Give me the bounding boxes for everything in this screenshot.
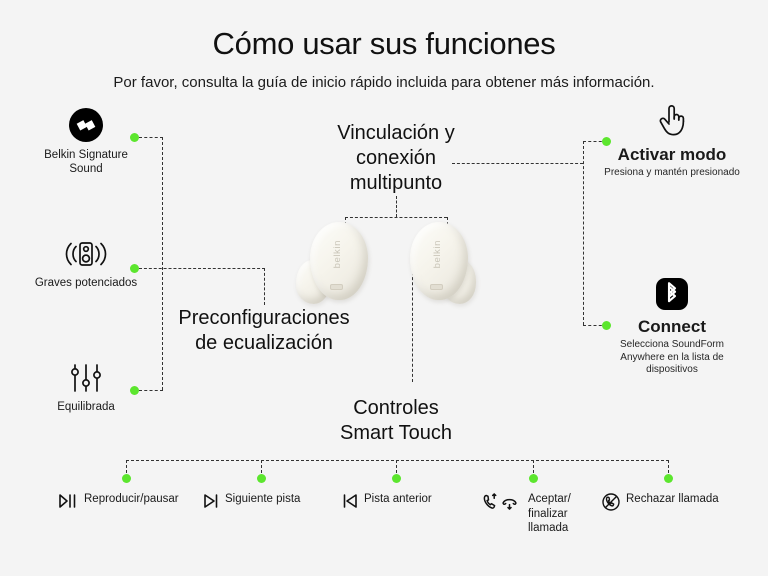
reject-call-icon: [602, 492, 620, 516]
label-multipoint-line2: conexión: [296, 146, 496, 171]
hand-tap-icon: [592, 100, 752, 138]
connector-multipoint-drop: [396, 196, 397, 217]
page-title: Cómo usar sus funciones: [0, 26, 768, 62]
label-smart-touch: Controles Smart Touch: [300, 396, 492, 446]
right-earbud: belkin: [404, 222, 482, 318]
connector-smart-touch-bus: [126, 460, 669, 461]
equalizer-sliders-icon: [20, 356, 152, 394]
bluetooth-icon: [596, 272, 748, 310]
previous-track-icon: [342, 492, 358, 514]
accept-end-call-icon: [482, 492, 522, 516]
feature-subtitle-line3: dispositivos: [596, 364, 748, 377]
speaker-waves-icon: [12, 232, 160, 270]
left-earbud: belkin: [296, 222, 374, 318]
feature-balanced: Equilibrada: [20, 356, 152, 414]
feature-connect: Connect Selecciona SoundForm Anywhere en…: [596, 272, 748, 377]
control-previous-track: Pista anterior: [342, 492, 432, 514]
connector-eq-presets-drop: [264, 268, 265, 305]
page-subtitle: Por favor, consulta la guía de inicio rá…: [0, 74, 768, 91]
feature-enhanced-bass: Graves potenciados: [12, 232, 160, 290]
belkin-logo-icon: [18, 104, 154, 142]
next-track-icon: [203, 492, 219, 514]
feature-label-line2: Sound: [18, 162, 154, 176]
feature-label-line1: Belkin Signature: [18, 148, 154, 162]
node-dot-ctrl-1: [122, 474, 131, 483]
control-label: Siguiente pista: [225, 492, 300, 507]
label-multipoint-line3: multipunto: [296, 171, 496, 196]
feature-label-line1: Graves potenciados: [12, 276, 160, 290]
right-earbud-contact: [430, 284, 443, 290]
feature-label-line1: Equilibrada: [20, 400, 152, 414]
control-label: Pista anterior: [364, 492, 432, 507]
left-earbud-brand: belkin: [332, 240, 343, 268]
right-earbud-brand: belkin: [432, 240, 443, 268]
feature-belkin-signature-sound: Belkin Signature Sound: [18, 104, 154, 176]
left-earbud-contact: [330, 284, 343, 290]
connector-multipoint-bus: [345, 217, 447, 218]
control-label: Rechazar llamada: [626, 492, 719, 507]
feature-subtitle-line2: Anywhere en la lista de: [596, 352, 748, 365]
control-play-pause: Reproducir/pausar: [58, 492, 179, 514]
label-multipoint: Vinculación y conexión multipunto: [296, 121, 496, 196]
node-dot-ctrl-4: [529, 474, 538, 483]
feature-title: Activar modo: [592, 144, 752, 165]
node-dot-ctrl-5: [664, 474, 673, 483]
node-dot-ctrl-2: [257, 474, 266, 483]
control-label: Aceptar/ finalizar llamada: [528, 492, 571, 536]
connector-right-trunk: [583, 141, 584, 325]
play-pause-icon: [58, 492, 78, 514]
label-multipoint-line1: Vinculación y: [296, 121, 496, 146]
node-dot-ctrl-3: [392, 474, 401, 483]
label-smart-touch-line2: Smart Touch: [300, 421, 492, 446]
feature-title: Connect: [596, 316, 748, 337]
label-smart-touch-line1: Controles: [300, 396, 492, 421]
feature-subtitle-line1: Presiona y mantén presionado: [592, 167, 752, 180]
control-reject-call: Rechazar llamada: [602, 492, 719, 516]
feature-activar-modo: Activar modo Presiona y mantén presionad…: [592, 100, 752, 180]
infographic-canvas: Cómo usar sus funciones Por favor, consu…: [0, 0, 768, 576]
label-eq-presets-line2: de ecualización: [160, 331, 368, 356]
control-next-track: Siguiente pista: [203, 492, 300, 514]
control-accept-end-call: Aceptar/ finalizar llamada: [482, 492, 571, 536]
control-label: Reproducir/pausar: [84, 492, 179, 507]
feature-subtitle-line1: Selecciona SoundForm: [596, 339, 748, 352]
